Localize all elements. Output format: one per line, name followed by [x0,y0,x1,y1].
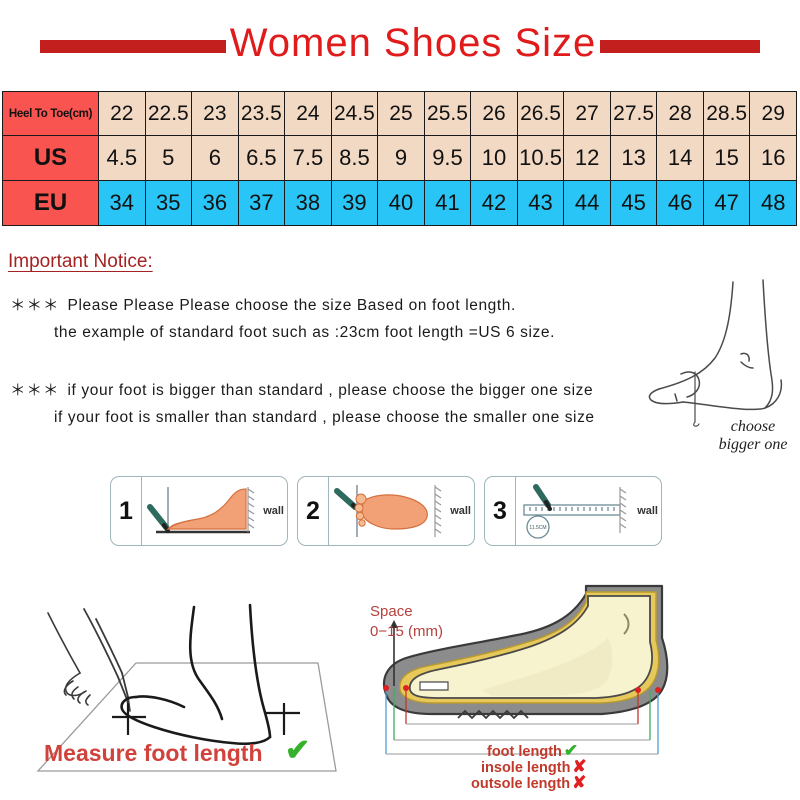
cell-us-10: 12 [564,136,611,181]
cell-us-2: 6 [192,136,239,181]
cell-us-14: 16 [750,136,797,181]
cell-cm-1: 22.5 [145,92,192,136]
cell-eu-10: 44 [564,181,611,226]
cell-eu-8: 42 [471,181,518,226]
important-notice-heading: Important Notice: [8,251,153,273]
notice-line-2-2: if your foot is smaller than standard , … [10,409,595,427]
cell-eu-12: 46 [657,181,704,226]
notice-block-2: ＊＊＊if your foot is bigger than standard … [10,378,595,436]
space-label-line-2: 0−15 (mm) [370,622,443,642]
page-title: Women Shoes Size [226,21,601,72]
notice-stars-2: ＊＊＊ [10,382,60,399]
page-title-banner: Women Shoes Size [0,18,800,74]
measure-check-icon: ✔ [285,733,310,768]
step-panel-1: 1 [110,476,288,546]
cell-us-11: 13 [610,136,657,181]
cell-cm-2: 23 [192,92,239,136]
row-label-heel-to-toe: Heel To Toe(cm) [3,92,99,136]
cell-us-12: 14 [657,136,704,181]
step-panel-2: 2 [297,476,475,546]
cell-eu-11: 45 [610,181,657,226]
row-label-eu: EU [3,181,99,226]
cell-cm-12: 28 [657,92,704,136]
step-wall-label-1: wall [263,505,284,517]
table-row-heel-to-toe: Heel To Toe(cm) 22 22.5 23 23.5 24 24.5 … [3,92,797,136]
table-row-us: US 4.5 5 6 6.5 7.5 8.5 9 9.5 10 10.5 12 … [3,136,797,181]
cell-eu-13: 47 [703,181,750,226]
cell-us-0: 4.5 [99,136,146,181]
step-wall-label-2: wall [450,505,471,517]
cell-cm-8: 26 [471,92,518,136]
notice-text-2-1: if your foot is bigger than standard , p… [68,382,594,399]
step-art-2: wall [329,477,475,545]
step-number-3: 3 [485,477,516,545]
caption-line-2: bigger one [698,436,800,454]
cell-us-9: 10.5 [517,136,564,181]
cell-cm-6: 25 [378,92,425,136]
cell-eu-7: 41 [424,181,471,226]
length-text-outsole: outsole length [471,776,570,792]
cell-eu-5: 39 [331,181,378,226]
cell-cm-7: 25.5 [424,92,471,136]
title-rule-right [600,40,760,53]
step-art-3: 11.5CM wall [516,477,662,545]
cell-cm-0: 22 [99,92,146,136]
cell-eu-14: 48 [750,181,797,226]
cell-cm-3: 23.5 [238,92,285,136]
notice-line-2-1: ＊＊＊if your foot is bigger than standard … [10,378,595,400]
cell-cm-11: 27.5 [610,92,657,136]
notice-line-1-2: the example of standard foot such as :23… [10,324,555,342]
cell-cm-10: 27 [564,92,611,136]
cell-eu-4: 38 [285,181,332,226]
notice-block-1: ＊＊＊Please Please Please choose the size … [10,293,555,351]
step-number-2: 2 [298,477,329,545]
cell-us-7: 9.5 [424,136,471,181]
step-wall-label-3: wall [637,505,658,517]
step-art-1: wall [142,477,288,545]
cell-cm-9: 26.5 [517,92,564,136]
cell-cm-14: 29 [750,92,797,136]
notice-text-1-1: Please Please Please choose the size Bas… [68,297,516,314]
notice-stars-1: ＊＊＊ [10,297,60,314]
measure-foot-label: Measure foot length [44,740,263,767]
cell-eu-2: 36 [192,181,239,226]
length-label-outsole: outsole length✘ [471,773,586,793]
cell-eu-1: 35 [145,181,192,226]
cell-us-13: 15 [703,136,750,181]
cell-cm-5: 24.5 [331,92,378,136]
space-label-line-1: Space [370,602,443,622]
step-number-1: 1 [111,477,142,545]
cell-eu-9: 43 [517,181,564,226]
cell-us-5: 8.5 [331,136,378,181]
step-panel-3: 3 11.5CM [484,476,662,546]
notice-line-1-1: ＊＊＊Please Please Please choose the size … [10,293,555,315]
space-label: Space 0−15 (mm) [370,602,443,643]
measurement-steps: 1 [110,476,662,546]
title-rule-left [40,40,226,53]
size-chart-table: Heel To Toe(cm) 22 22.5 23 23.5 24 24.5 … [2,91,797,226]
caption-line-1: choose [698,418,800,436]
table-row-eu: EU 34 35 36 37 38 39 40 41 42 43 44 45 4… [3,181,797,226]
cell-us-4: 7.5 [285,136,332,181]
cross-icon-outsole: ✘ [572,773,586,792]
foot-sketch-caption: choose bigger one [698,418,800,455]
cell-eu-0: 34 [99,181,146,226]
cell-us-1: 5 [145,136,192,181]
cell-cm-13: 28.5 [703,92,750,136]
row-label-us: US [3,136,99,181]
cell-eu-3: 37 [238,181,285,226]
ruler-badge-value: 11.5CM [529,525,546,531]
cell-us-8: 10 [471,136,518,181]
cell-us-6: 9 [378,136,425,181]
cell-cm-4: 24 [285,92,332,136]
cell-eu-6: 40 [378,181,425,226]
cell-us-3: 6.5 [238,136,285,181]
